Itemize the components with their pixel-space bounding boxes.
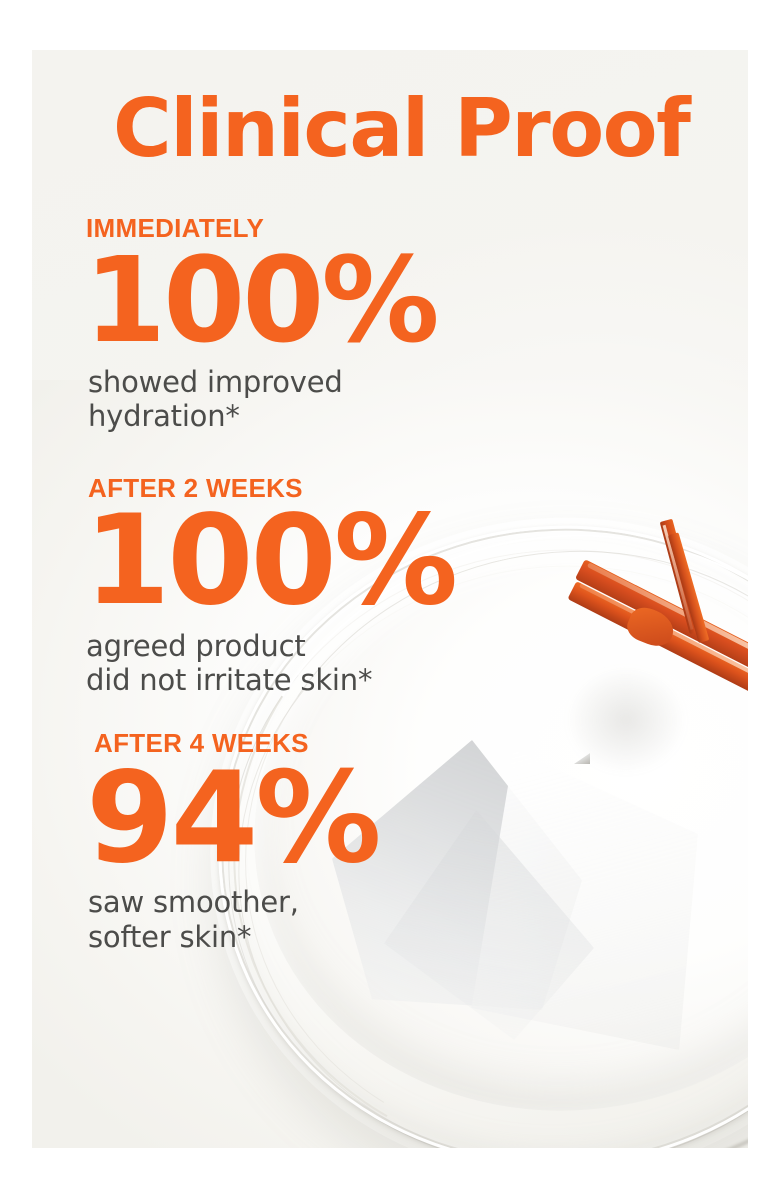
poster-panel: Clinical Proof IMMEDIATELY 100% showed i…: [32, 50, 748, 1148]
stat-block-after-2-weeks: AFTER 2 WEEKS 100% agreed product did no…: [86, 475, 455, 698]
stat-description-immediately: showed improved hydration*: [88, 365, 437, 434]
stat-block-immediately: IMMEDIATELY 100% showed improved hydrati…: [86, 215, 437, 434]
stat-value-immediately: 100%: [84, 243, 437, 359]
stat-block-after-4-weeks: AFTER 4 WEEKS 94% saw smoother, softer s…: [86, 730, 379, 954]
poster-copy: Clinical Proof IMMEDIATELY 100% showed i…: [32, 50, 748, 1148]
page-title: Clinical Proof: [113, 89, 689, 169]
clinical-proof-poster: Clinical Proof IMMEDIATELY 100% showed i…: [0, 0, 780, 1196]
stat-value-after-2-weeks: 100%: [84, 501, 455, 623]
stat-description-after-2-weeks: agreed product did not irritate skin*: [86, 629, 455, 698]
stat-value-after-4-weeks: 94%: [86, 756, 379, 879]
stat-description-after-4-weeks: saw smoother, softer skin*: [88, 885, 379, 954]
